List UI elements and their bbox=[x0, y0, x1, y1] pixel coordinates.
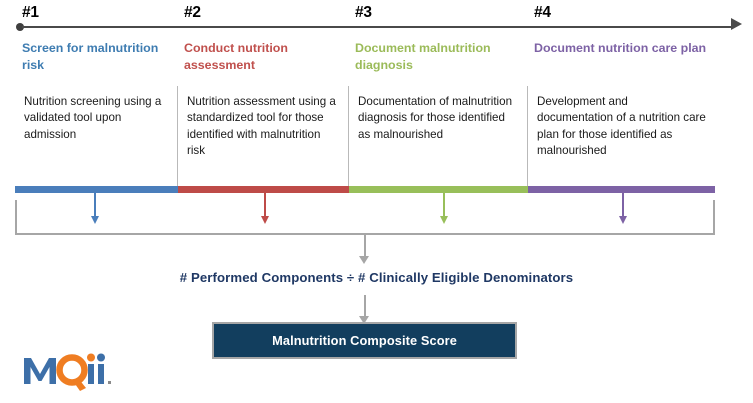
step-number-4: #4 bbox=[534, 4, 551, 22]
arrow-right-icon bbox=[731, 18, 742, 30]
bracket-to-formula-arrowhead bbox=[359, 256, 369, 264]
composite-score-box: Malnutrition Composite Score bbox=[212, 322, 517, 359]
column-divider-3 bbox=[527, 86, 528, 187]
step-arrow-head-3 bbox=[440, 216, 448, 224]
step-arrow-stem-3 bbox=[443, 190, 445, 218]
step-description-row: Nutrition screening using a validated to… bbox=[15, 86, 715, 186]
step-heading-2: Conduct nutrition assessment bbox=[184, 40, 342, 74]
composite-score-label: Malnutrition Composite Score bbox=[272, 333, 457, 348]
step-heading-3: Document malnutrition diagnosis bbox=[355, 40, 527, 74]
timeline-axis-line bbox=[22, 26, 734, 28]
step-description-3: Documentation of malnutrition diagnosis … bbox=[349, 86, 527, 186]
step-description-2: Nutrition assessment using a standardize… bbox=[178, 86, 348, 186]
step-heading-4: Document nutrition care plan bbox=[534, 40, 712, 57]
step-bar-3 bbox=[349, 186, 528, 193]
aggregation-bracket bbox=[15, 200, 715, 235]
step-number-3: #3 bbox=[355, 4, 372, 22]
step-arrow-stem-2 bbox=[264, 190, 266, 218]
mqii-logo bbox=[22, 348, 118, 392]
composite-formula: # Performed Components ÷ # Clinically El… bbox=[0, 270, 753, 285]
step-bar-1 bbox=[15, 186, 178, 193]
step-heading-1: Screen for malnutrition risk bbox=[22, 40, 172, 74]
column-divider-2 bbox=[348, 86, 349, 187]
step-arrow-head-1 bbox=[91, 216, 99, 224]
step-arrow-stem-4 bbox=[622, 190, 624, 218]
step-number-2: #2 bbox=[184, 4, 201, 22]
step-arrow-head-4 bbox=[619, 216, 627, 224]
step-description-1: Nutrition screening using a validated to… bbox=[15, 86, 177, 186]
step-number-1: #1 bbox=[22, 4, 39, 22]
column-divider-1 bbox=[177, 86, 178, 187]
step-arrow-head-2 bbox=[261, 216, 269, 224]
step-arrow-stem-1 bbox=[94, 190, 96, 218]
bracket-to-formula-stem bbox=[364, 235, 366, 257]
step-description-4: Development and documentation of a nutri… bbox=[528, 86, 714, 186]
diagram-canvas: #1 #2 #3 #4 Screen for malnutrition risk… bbox=[0, 0, 753, 403]
formula-to-score-stem bbox=[364, 295, 366, 317]
